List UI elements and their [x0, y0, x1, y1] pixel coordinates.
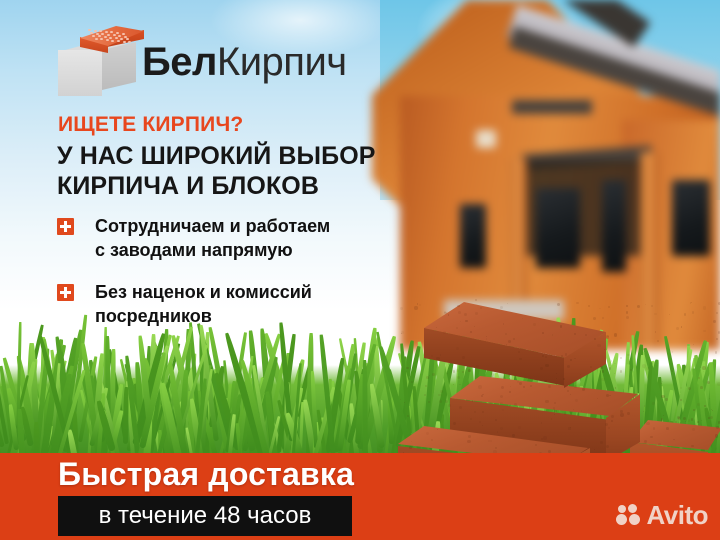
list-item: Сотрудничаем и работаем с заводами напря… — [57, 214, 397, 262]
benefit-text: Сотрудничаем и работаем с заводами напря… — [95, 214, 330, 262]
plus-icon — [57, 284, 74, 301]
headline-line-2: КИРПИЧА И БЛОКОВ — [57, 171, 376, 201]
house-window-left — [460, 204, 486, 268]
avito-dots-icon — [616, 504, 642, 526]
list-item: Без наценок и комиссий посредников — [57, 280, 397, 328]
house-window-right — [672, 180, 710, 256]
avito-brand-text: Avito — [646, 502, 708, 528]
logo-name-light: Кирпич — [217, 40, 347, 84]
house-eave-a — [512, 100, 592, 114]
headline-main: У НАС ШИРОКИЙ ВЫБОР КИРПИЧА И БЛОКОВ — [57, 141, 376, 201]
headline-line-1: У НАС ШИРОКИЙ ВЫБОР — [57, 141, 376, 171]
house-dormer-detail — [476, 130, 496, 148]
advertisement-banner: БелКирпич ИЩЕТЕ КИРПИЧ? У НАС ШИРОКИЙ ВЫ… — [0, 0, 720, 540]
logo[interactable]: БелКирпич — [56, 24, 356, 96]
house-window-porch — [536, 188, 580, 268]
delivery-title: Быстрая доставка — [58, 456, 354, 493]
avito-watermark: Avito — [616, 500, 708, 530]
delivery-subtitle: в течение 48 часов — [58, 496, 352, 536]
benefit-text: Без наценок и комиссий посредников — [95, 280, 312, 328]
plus-icon — [57, 218, 74, 235]
logo-name-bold: Бел — [142, 40, 217, 84]
house-window-mid — [602, 180, 626, 272]
headline-kicker: ИЩЕТЕ КИРПИЧ? — [58, 113, 243, 137]
logo-wordmark: БелКирпич — [142, 40, 347, 84]
benefit-list: Сотрудничаем и работаем с заводами напря… — [57, 214, 397, 346]
